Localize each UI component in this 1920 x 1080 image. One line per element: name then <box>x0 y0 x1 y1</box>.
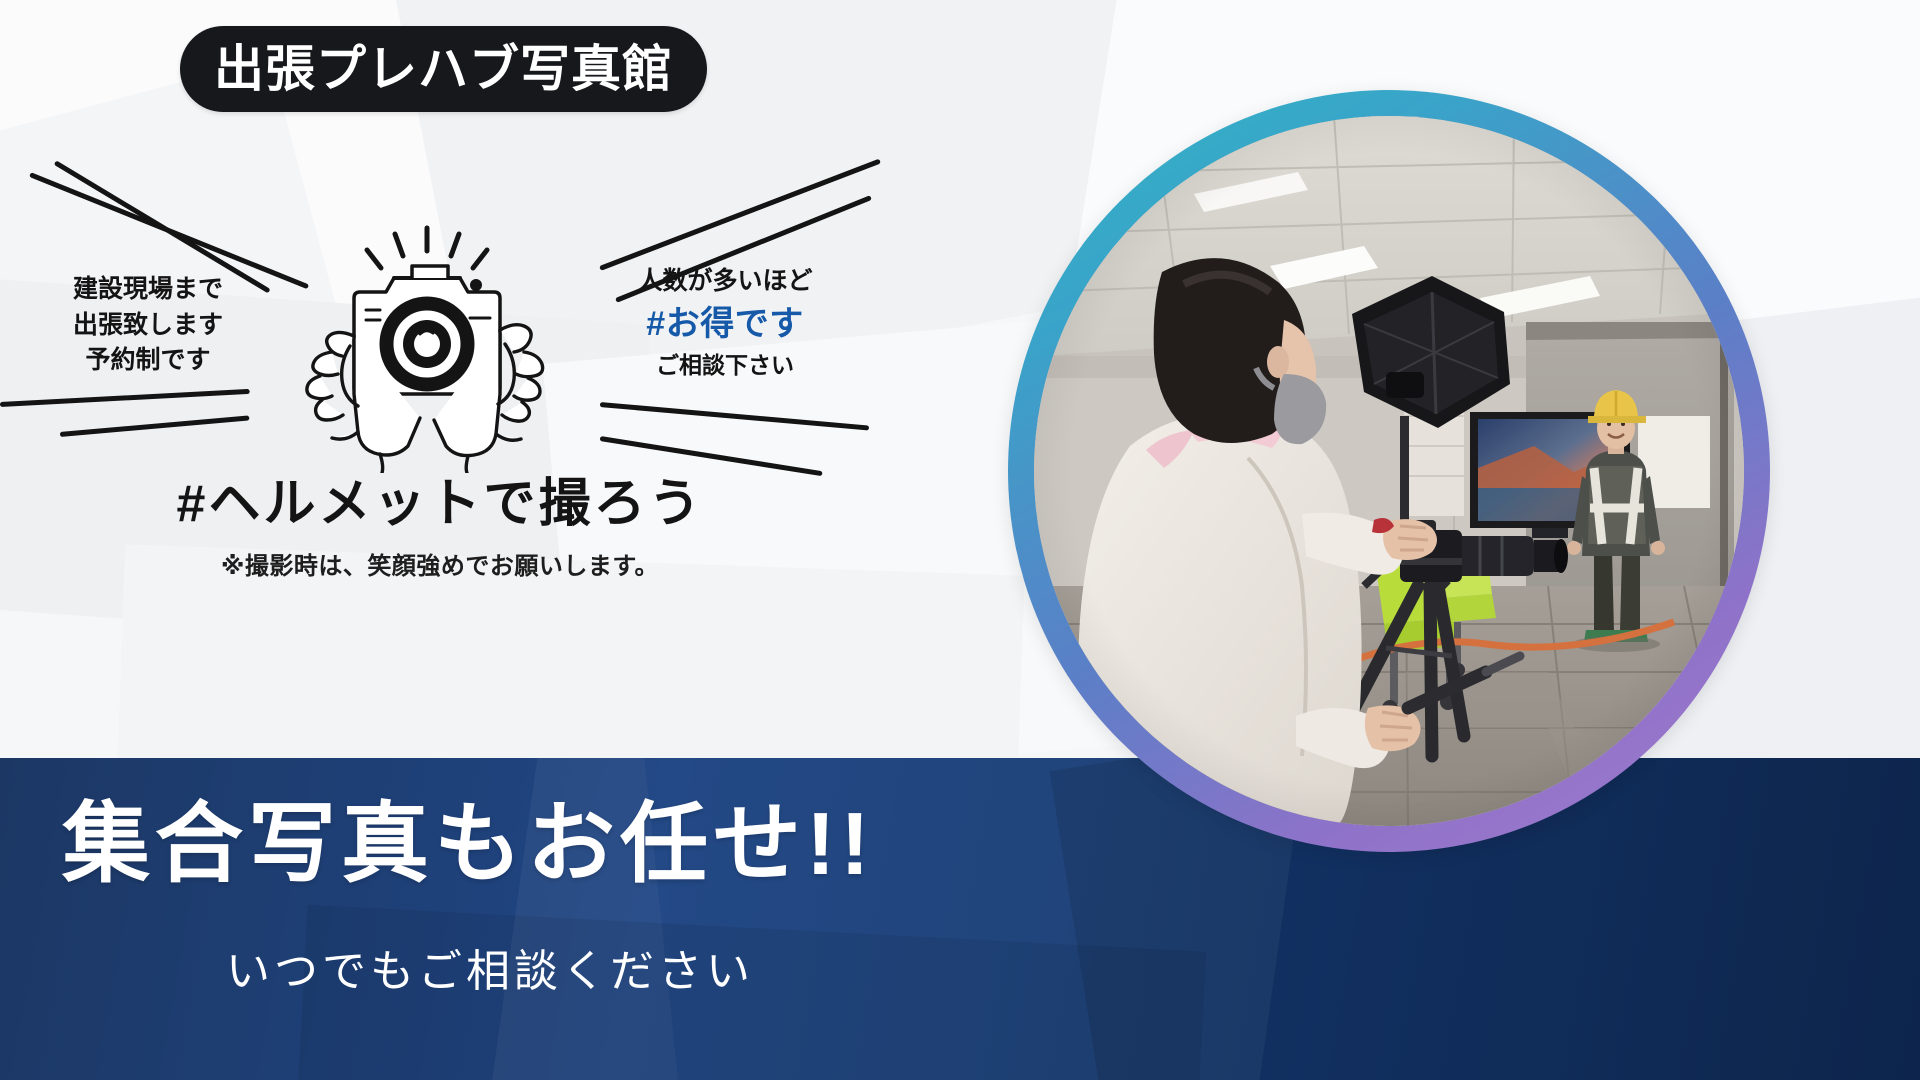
left-callout-line-3: 予約制です <box>48 343 248 379</box>
speed-line <box>600 436 823 476</box>
promo-banner: 出張プレハブ写真館 建設現場まで 出張致します 予約制です 人数が多いほど #お… <box>0 0 1920 1080</box>
band-headline: 集合写真もお任せ!! <box>62 800 875 888</box>
left-callout: 建設現場まで 出張致します 予約制です <box>48 272 248 379</box>
camera-in-hands-icon <box>262 218 592 473</box>
center-headline: #ヘルメットで撮ろう <box>120 474 760 535</box>
right-callout-line-3: ご相談下さい <box>620 349 830 382</box>
speed-line <box>600 402 869 431</box>
right-callout-highlight: #お得です <box>620 300 830 349</box>
speed-line <box>599 159 881 271</box>
title-badge: 出張プレハブ写真館 <box>180 26 707 112</box>
center-note: ※撮影時は、笑顔強めでお願いします。 <box>120 546 760 581</box>
title-badge-label: 出張プレハブ写真館 <box>214 44 673 94</box>
right-callout: 人数が多いほど #お得です ご相談下さい <box>620 264 830 381</box>
left-callout-line-2: 出張致します <box>48 308 248 344</box>
right-callout-line-1: 人数が多いほど <box>620 264 830 300</box>
speed-line <box>60 415 250 437</box>
left-callout-line-1: 建設現場まで <box>48 272 248 308</box>
studio-photo: プレハブ室内での撮影風景。カメラマンが三脚のカメラとソフトボックス照明を使い、ヘ… <box>1034 116 1744 826</box>
photo-circle-ring: プレハブ室内での撮影風景。カメラマンが三脚のカメラとソフトボックス照明を使い、ヘ… <box>1008 90 1770 852</box>
speed-lines-left-bottom <box>0 396 270 476</box>
band-subtext: いつでもご相談ください <box>226 950 754 994</box>
